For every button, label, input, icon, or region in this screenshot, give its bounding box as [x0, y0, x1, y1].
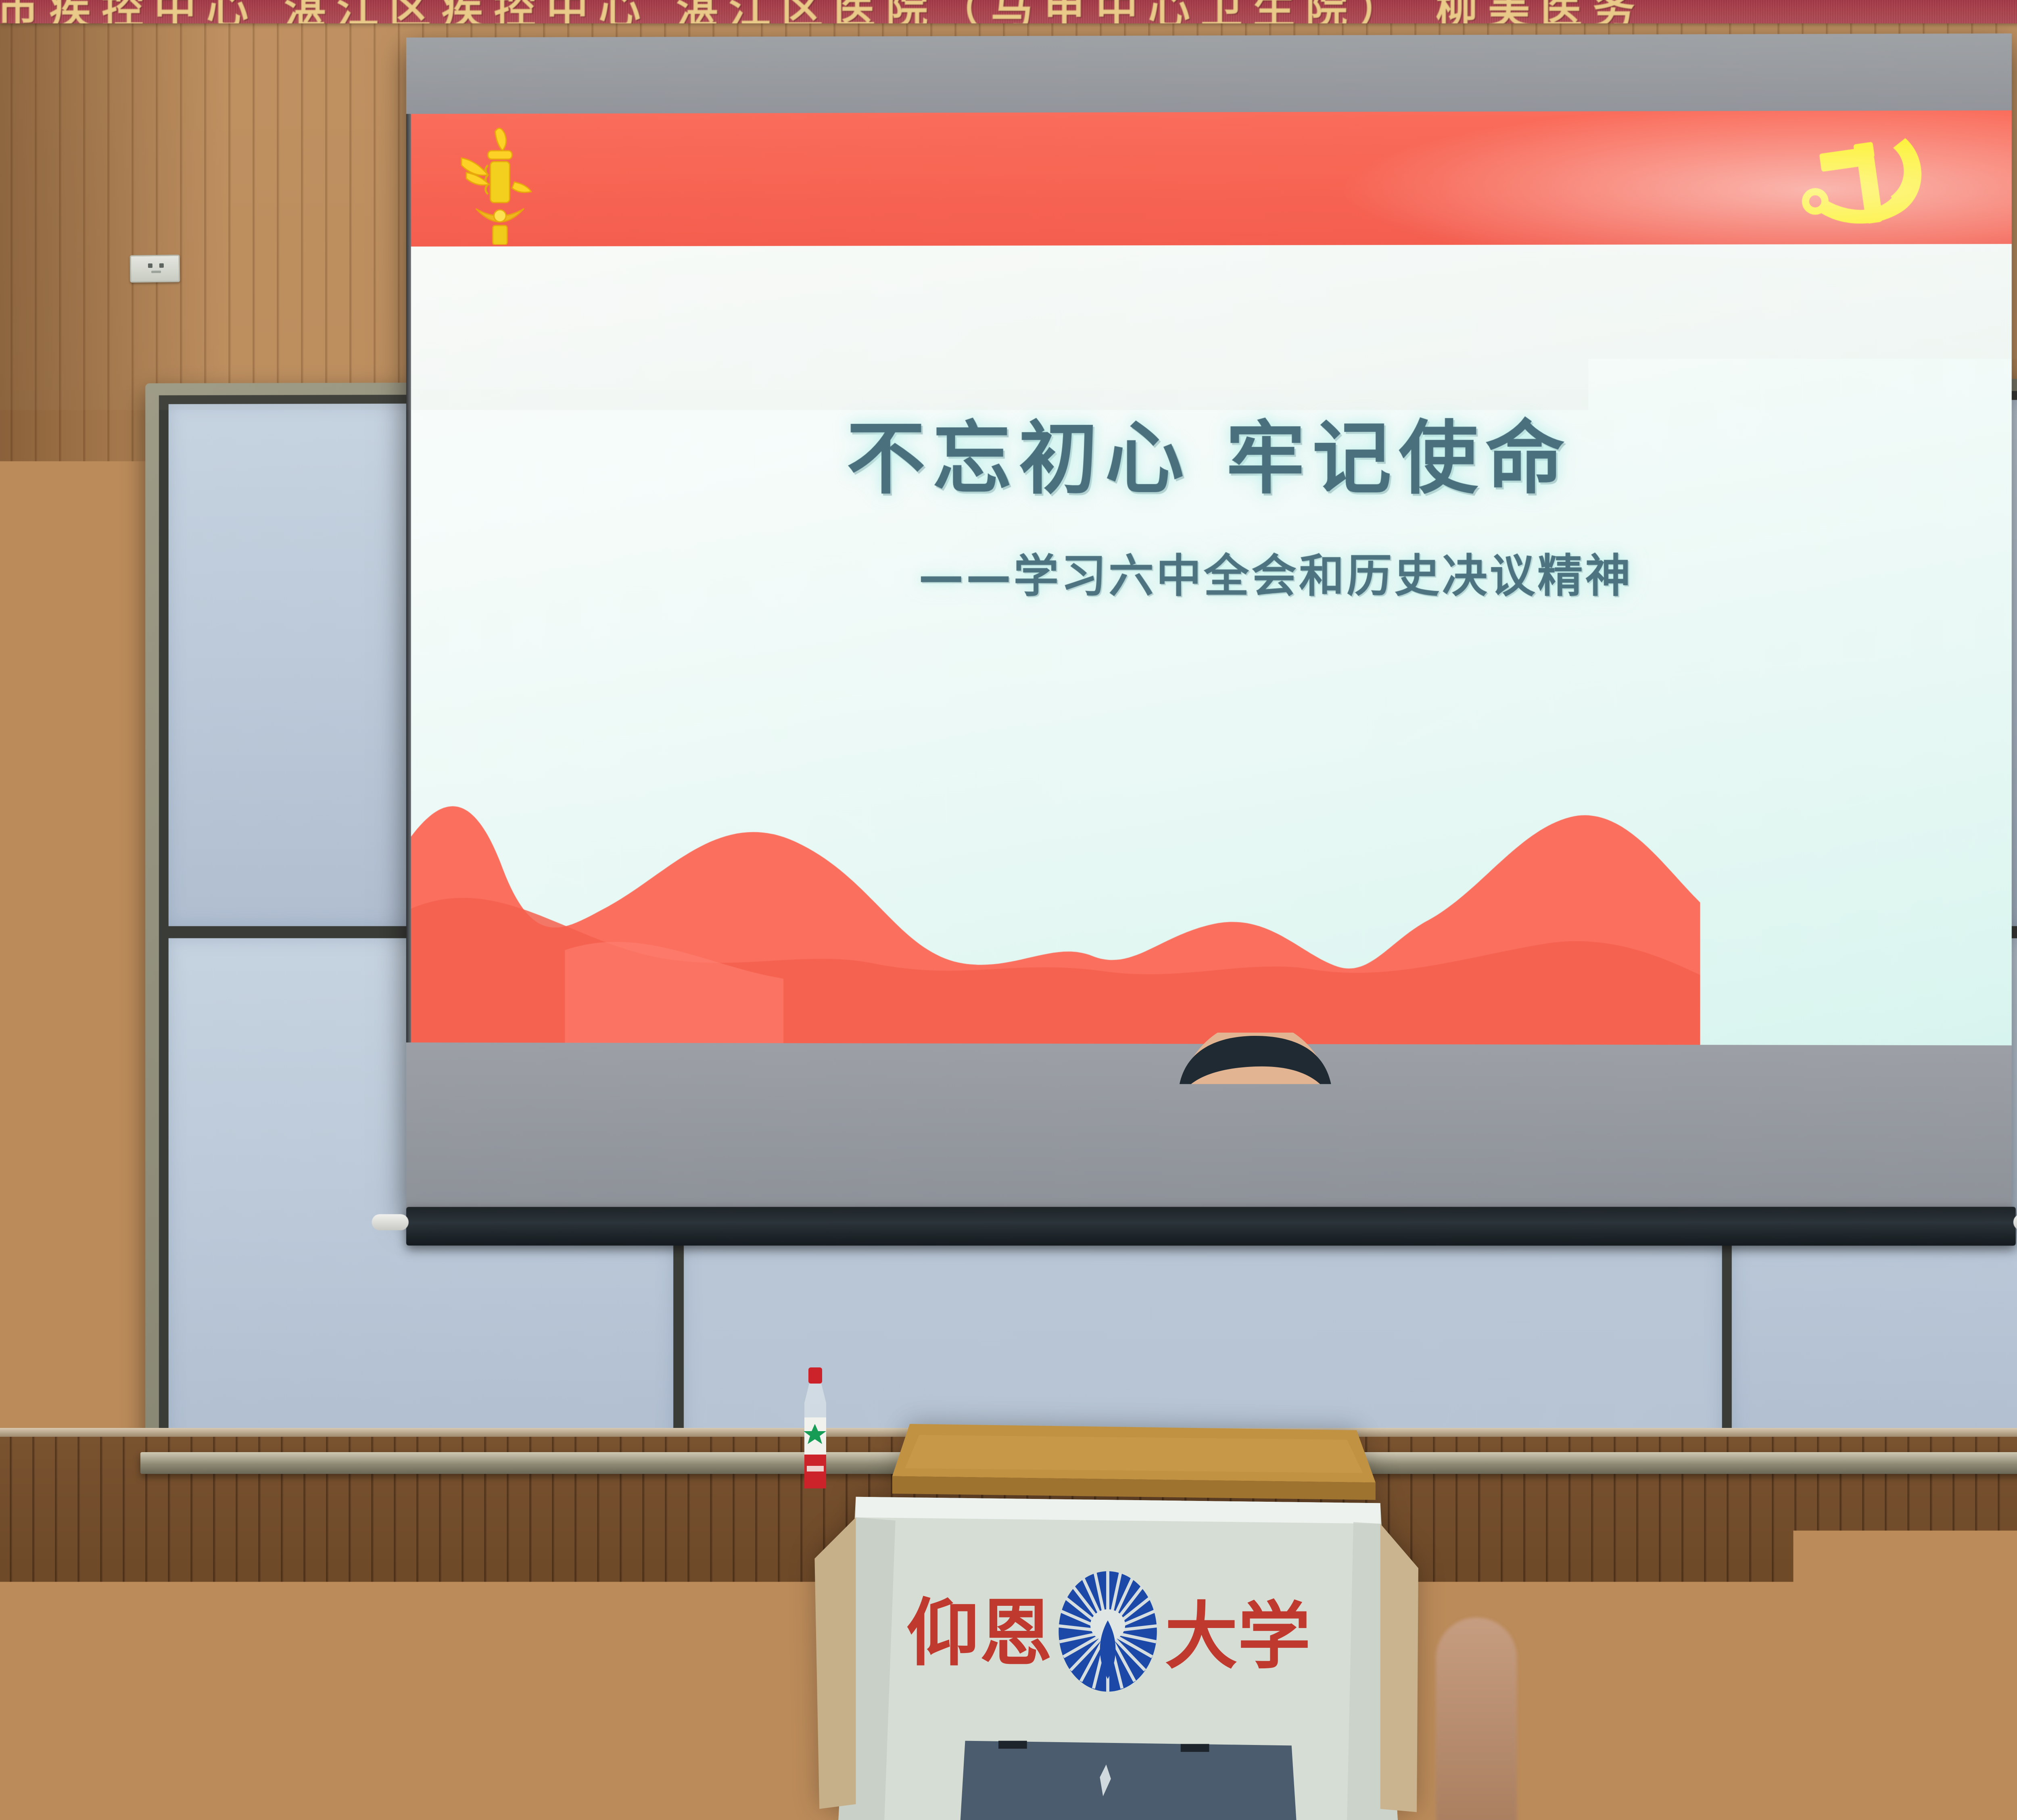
podium-logo-text-left: 仰恩 [906, 1590, 1052, 1676]
red-event-banner: 市疾控中心 湛江区疾控中心 湛江区医院（马甲中心卫生院） 柳美医务 [0, 0, 2017, 23]
slide-subtitle: ——学习六中全会和历史决议精神 [411, 539, 2012, 605]
golden-torch-column-icon [440, 124, 560, 245]
slide-title: 不忘初心 牢记使命 [411, 394, 2012, 509]
roller-end-cap [372, 1214, 409, 1230]
lectern: 仰恩 [730, 1424, 1489, 1820]
roller-end-cap [2013, 1214, 2017, 1230]
lecture-hall-scene: 不忘初心 牢记使命 ——学习六中全会和历史决议精神 [0, 0, 2017, 1820]
bottle-cap [808, 1367, 822, 1384]
wall-power-socket [130, 255, 180, 282]
socket-hole [159, 263, 164, 268]
podium-logo-text-right: 大学 [1165, 1594, 1310, 1679]
radial-sunburst-logo-icon [1059, 1571, 1157, 1692]
slide-header-band [411, 111, 2012, 247]
screen-letterbox-top [406, 33, 2012, 114]
audience-head [1436, 1618, 1517, 1820]
hammer-and-sickle-icon [1801, 119, 1935, 240]
screen-left-edge [406, 38, 411, 1211]
socket-hole [148, 263, 152, 268]
presentation-slide: 不忘初心 牢记使命 ——学习六中全会和历史决议精神 [411, 111, 2012, 1046]
lectern-base-panel [960, 1741, 1297, 1820]
socket-slot [151, 271, 161, 273]
slide-mountain-graphic [411, 785, 1700, 1045]
banner-text: 市疾控中心 湛江区疾控中心 湛江区医院（马甲中心卫生院） 柳美医务 [0, 0, 1645, 23]
